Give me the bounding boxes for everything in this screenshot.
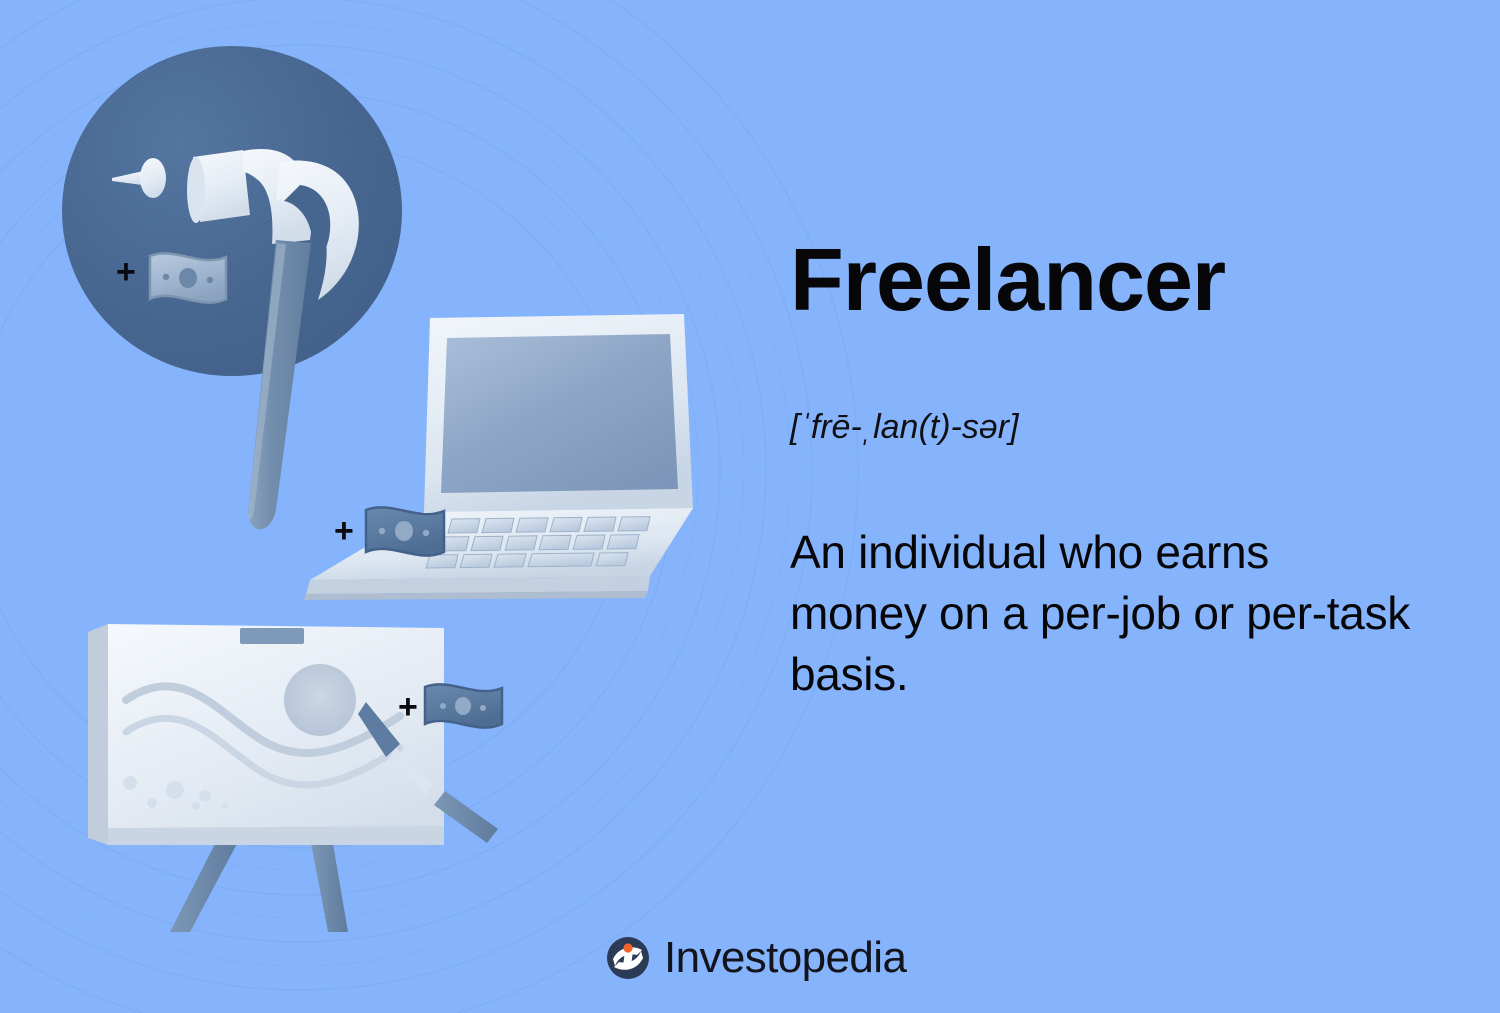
- banknote-icon-2: [366, 507, 444, 555]
- investopedia-logo: Investopedia: [606, 936, 906, 980]
- plus-symbol-1: +: [116, 255, 136, 289]
- hammer-icon: [187, 149, 359, 529]
- easel-icon: [88, 624, 498, 932]
- plus-symbol-2: +: [334, 514, 354, 548]
- pronunciation-text: [ˈfrē-ˌlan(t)-sər]: [790, 408, 1019, 447]
- investopedia-wordmark: Investopedia: [664, 936, 906, 980]
- plus-symbol-3: +: [398, 690, 418, 724]
- banknote-icon-1: [150, 253, 226, 302]
- illustration: [0, 0, 1500, 1013]
- nail-icon: [112, 158, 166, 198]
- laptop-icon: [304, 314, 693, 600]
- term-title: Freelancer: [790, 236, 1225, 324]
- definition-text: An individual who earns money on a per-j…: [790, 522, 1410, 706]
- banknote-icon-3: [425, 684, 502, 727]
- definition-card: + + + Freelancer [ˈfrē-ˌlan(t)-sər] An i…: [0, 0, 1500, 1013]
- investopedia-mark-icon: [606, 936, 650, 980]
